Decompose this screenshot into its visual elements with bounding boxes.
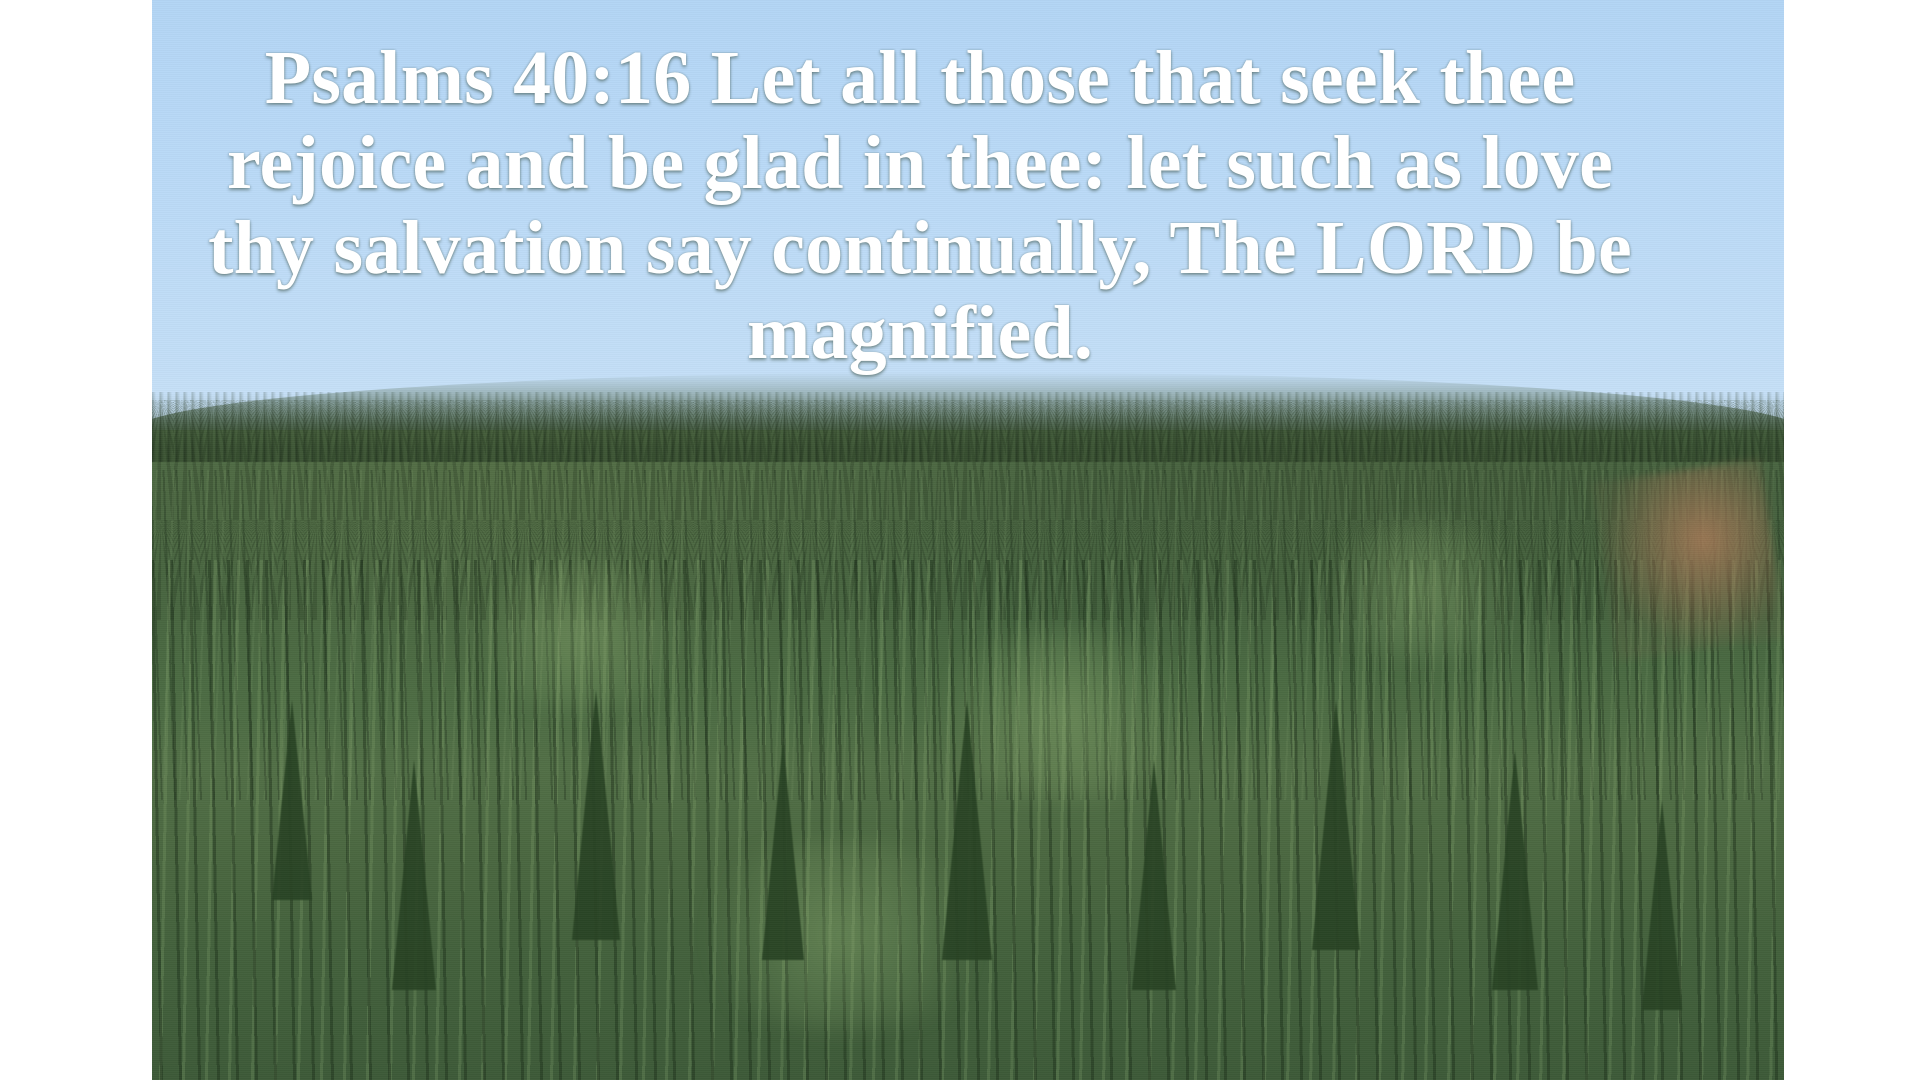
sunlit-patch xyxy=(1302,520,1542,660)
conifer-tree xyxy=(392,760,436,990)
conifer-tree xyxy=(572,690,620,940)
cut-bank xyxy=(1592,459,1784,661)
conifer-tree xyxy=(1642,800,1682,1010)
conifer-tree xyxy=(1492,750,1538,990)
letterbox-right xyxy=(1784,0,1920,1080)
conifer-tree xyxy=(762,740,804,960)
sunlit-patch xyxy=(452,560,712,710)
conifer-tree xyxy=(272,700,312,900)
verse-text: Psalms 40:16 Let all those that seek the… xyxy=(190,36,1650,376)
conifer-tree xyxy=(942,700,992,960)
letterbox-left xyxy=(0,0,152,1080)
scripture-slide: Psalms 40:16 Let all those that seek the… xyxy=(0,0,1920,1080)
conifer-tree xyxy=(1132,760,1176,990)
conifer-tree xyxy=(1312,700,1360,950)
